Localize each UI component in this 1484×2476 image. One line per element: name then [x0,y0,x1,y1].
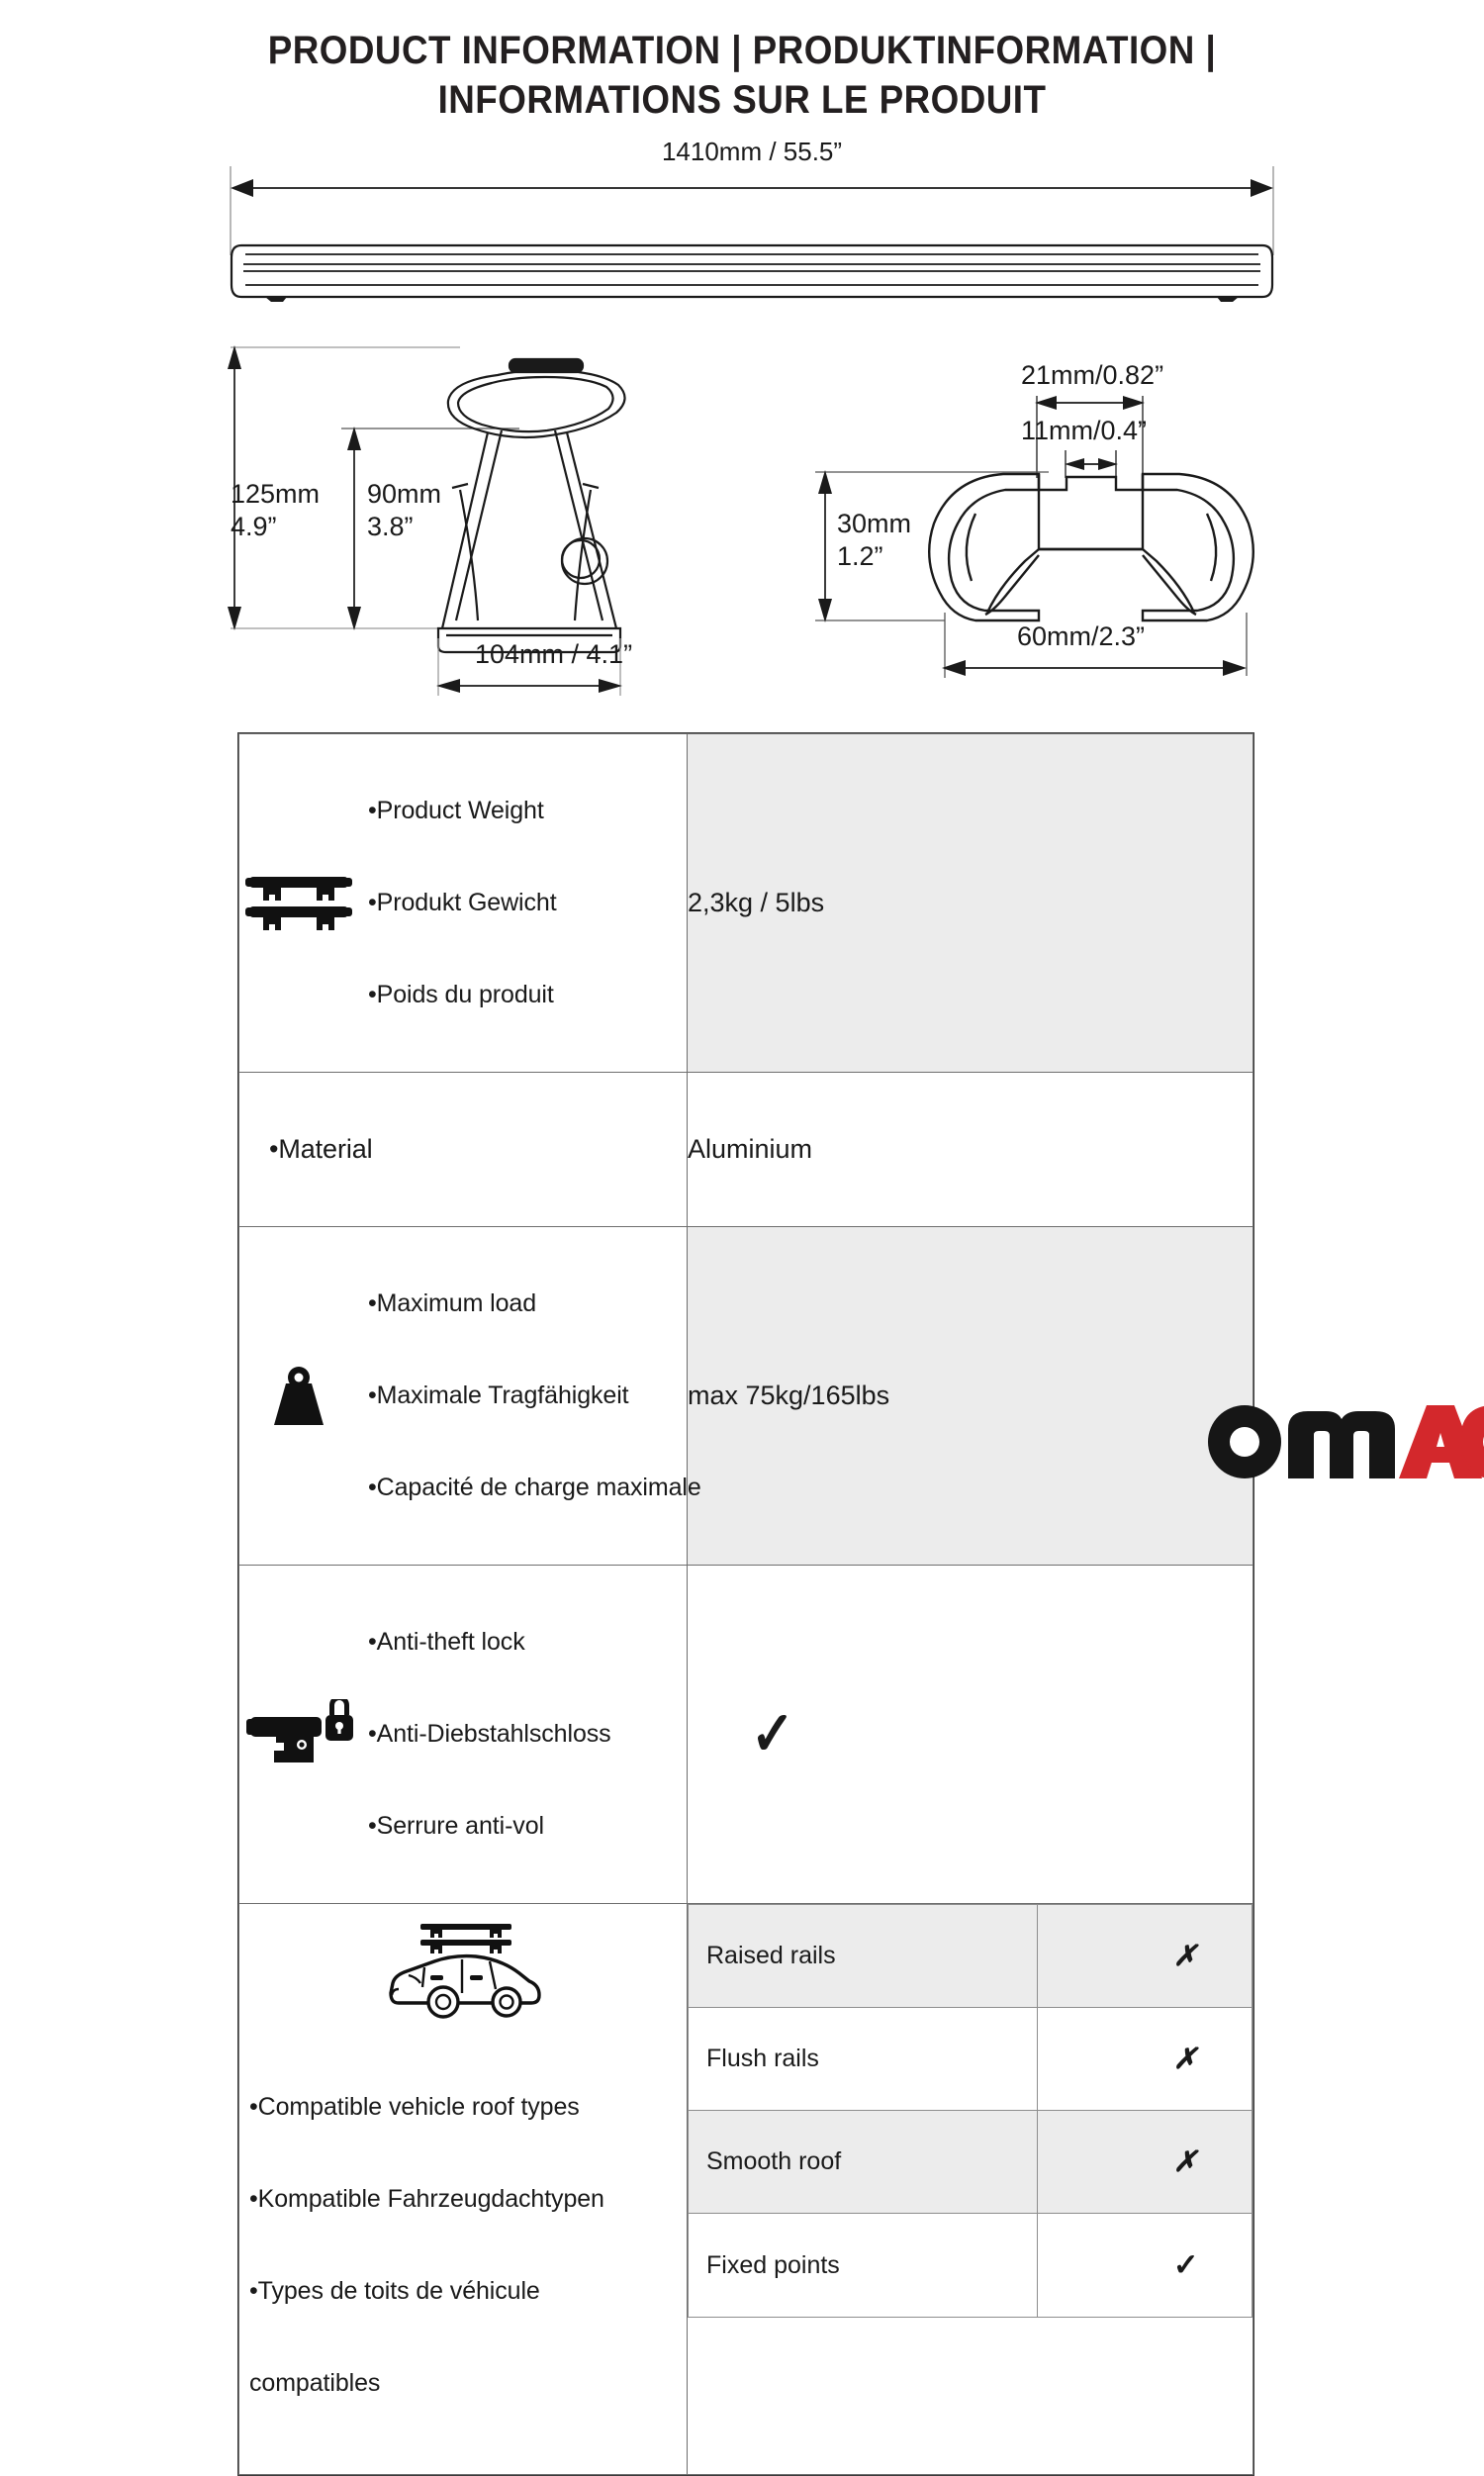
table-row: •Compatible vehicle roof types •Kompatib… [239,1904,1253,2475]
roof-type-name: Raised rails [689,1905,1038,2008]
technical-drawings: 125mm 4.9” 90mm 3.8” 104mm / 4.1” [0,341,1484,708]
profile-slot-inner-label: 11mm/0.4” [1021,415,1147,447]
roof-type-support: ✗ [1038,1905,1252,2008]
row-lock-labels: •Anti-theft lock •Anti-Diebstahlschloss … [368,1566,611,1903]
foot-height-inner-label: 90mm 3.8” [367,478,441,543]
profile-slot-outer-label: 21mm/0.82” [1021,359,1163,392]
profile-cross-section: 21mm/0.82” 11mm/0.4” 30mm 1.2” 60mm/2.3” [801,351,1276,698]
label-line: •Types de toits de véhicule [249,2276,604,2307]
foot-height-total-label: 125mm 4.9” [231,478,320,543]
roof-type-row: Flush rails ✗ [689,2008,1252,2111]
label-line: compatibles [249,2368,604,2399]
roof-type-support: ✗ [1038,2008,1252,2111]
label-line: •Product Weight [368,796,557,826]
roof-type-support: ✗ [1038,2111,1252,2214]
roof-type-name: Flush rails [689,2008,1038,2111]
row-maxload-label-cell: •Maximum load •Maximale Tragfähigkeit •C… [239,1227,688,1566]
row-rooftypes-label-cell: •Compatible vehicle roof types •Kompatib… [239,1904,688,2475]
check-icon: ✓ [1173,2247,1199,2282]
lock-icon [239,1699,358,1770]
table-row: •Product Weight •Produkt Gewicht •Poids … [239,734,1253,1073]
bar-length-label: 1410mm / 55.5” [228,137,1276,167]
foot-drawing: 125mm 4.9” 90mm 3.8” 104mm / 4.1” [223,341,697,708]
table-row: •Maximum load •Maximale Tragfähigkeit •C… [239,1227,1253,1566]
row-lock-value: ✓ [688,1566,1253,1904]
roof-type-row: Raised rails ✗ [689,1905,1252,2008]
cross-icon: ✗ [1173,2146,1197,2178]
title-line-2: INFORMATIONS SUR LE PRODUIT [59,75,1425,125]
title-line-1: PRODUCT INFORMATION | PRODUKTINFORMATION… [59,26,1425,75]
roof-type-row: Fixed points ✓ [689,2214,1252,2318]
label-line: •Poids du produit [368,980,557,1010]
label-line: •Produkt Gewicht [368,888,557,918]
roof-type-name: Fixed points [689,2214,1038,2318]
bar-length-diagram: 1410mm / 55.5” [228,137,1276,315]
spec-table: •Product Weight •Produkt Gewicht •Poids … [237,732,1254,2476]
cross-icon: ✗ [1173,2044,1197,2075]
cross-icon: ✗ [1173,1941,1197,1972]
logo-letter-m [1288,1411,1395,1478]
profile-height-label: 30mm 1.2” [837,508,911,573]
weight-icon [239,1364,358,1429]
label-line: •Material [269,1134,373,1165]
lock-check-mark: ✓ [751,1704,794,1765]
label-line: •Maximum load [368,1288,701,1319]
label-line: •Kompatible Fahrzeugdachtypen [249,2184,604,2215]
label-line: •Capacité de charge maximale [368,1473,701,1503]
roof-type-support: ✓ [1038,2214,1252,2318]
label-line: •Anti-theft lock [368,1627,611,1658]
logo-letter-o [1208,1405,1281,1478]
omac-logo-svg [1205,1403,1484,1480]
row-weight-label-cell: •Product Weight •Produkt Gewicht •Poids … [239,734,688,1073]
row-lock-label-cell: •Anti-theft lock •Anti-Diebstahlschloss … [239,1566,688,1904]
label-line: •Anti-Diebstahlschloss [368,1719,611,1750]
crossbars-icon [239,873,358,934]
row-maxload-labels: •Maximum load •Maximale Tragfähigkeit •C… [368,1227,701,1565]
label-line: •Compatible vehicle roof types [249,2092,604,2123]
label-line: •Serrure anti-vol [368,1811,611,1842]
foot-width-label: 104mm / 4.1” [475,638,632,671]
roof-type-name: Smooth roof [689,2111,1038,2214]
row-material-labels: •Material [269,1073,373,1226]
roof-type-row: Smooth roof ✗ [689,2111,1252,2214]
profile-width-label: 60mm/2.3” [1017,620,1145,653]
page-title: PRODUCT INFORMATION | PRODUKTINFORMATION… [0,26,1484,125]
row-weight-value: 2,3kg / 5lbs [688,734,1253,1073]
rooftypes-subtable-cell: Raised rails ✗ Flush rails ✗ Smooth roof [688,1904,1253,2475]
row-material-value: Aluminium [688,1073,1253,1227]
row-rooftypes-labels: •Compatible vehicle roof types •Kompatib… [249,2031,604,2460]
car-with-rack-icon [249,1918,683,2023]
row-maxload-value: max 75kg/165lbs [688,1227,1253,1566]
row-material-label-cell: •Material [239,1073,688,1227]
roof-types-table: Raised rails ✗ Flush rails ✗ Smooth roof [688,1904,1252,2318]
table-row: •Material Aluminium [239,1073,1253,1227]
row-weight-labels: •Product Weight •Produkt Gewicht •Poids … [368,734,557,1072]
table-row: •Anti-theft lock •Anti-Diebstahlschloss … [239,1566,1253,1904]
label-line: •Maximale Tragfähigkeit [368,1381,701,1411]
omac-logo [1205,1403,1484,1480]
